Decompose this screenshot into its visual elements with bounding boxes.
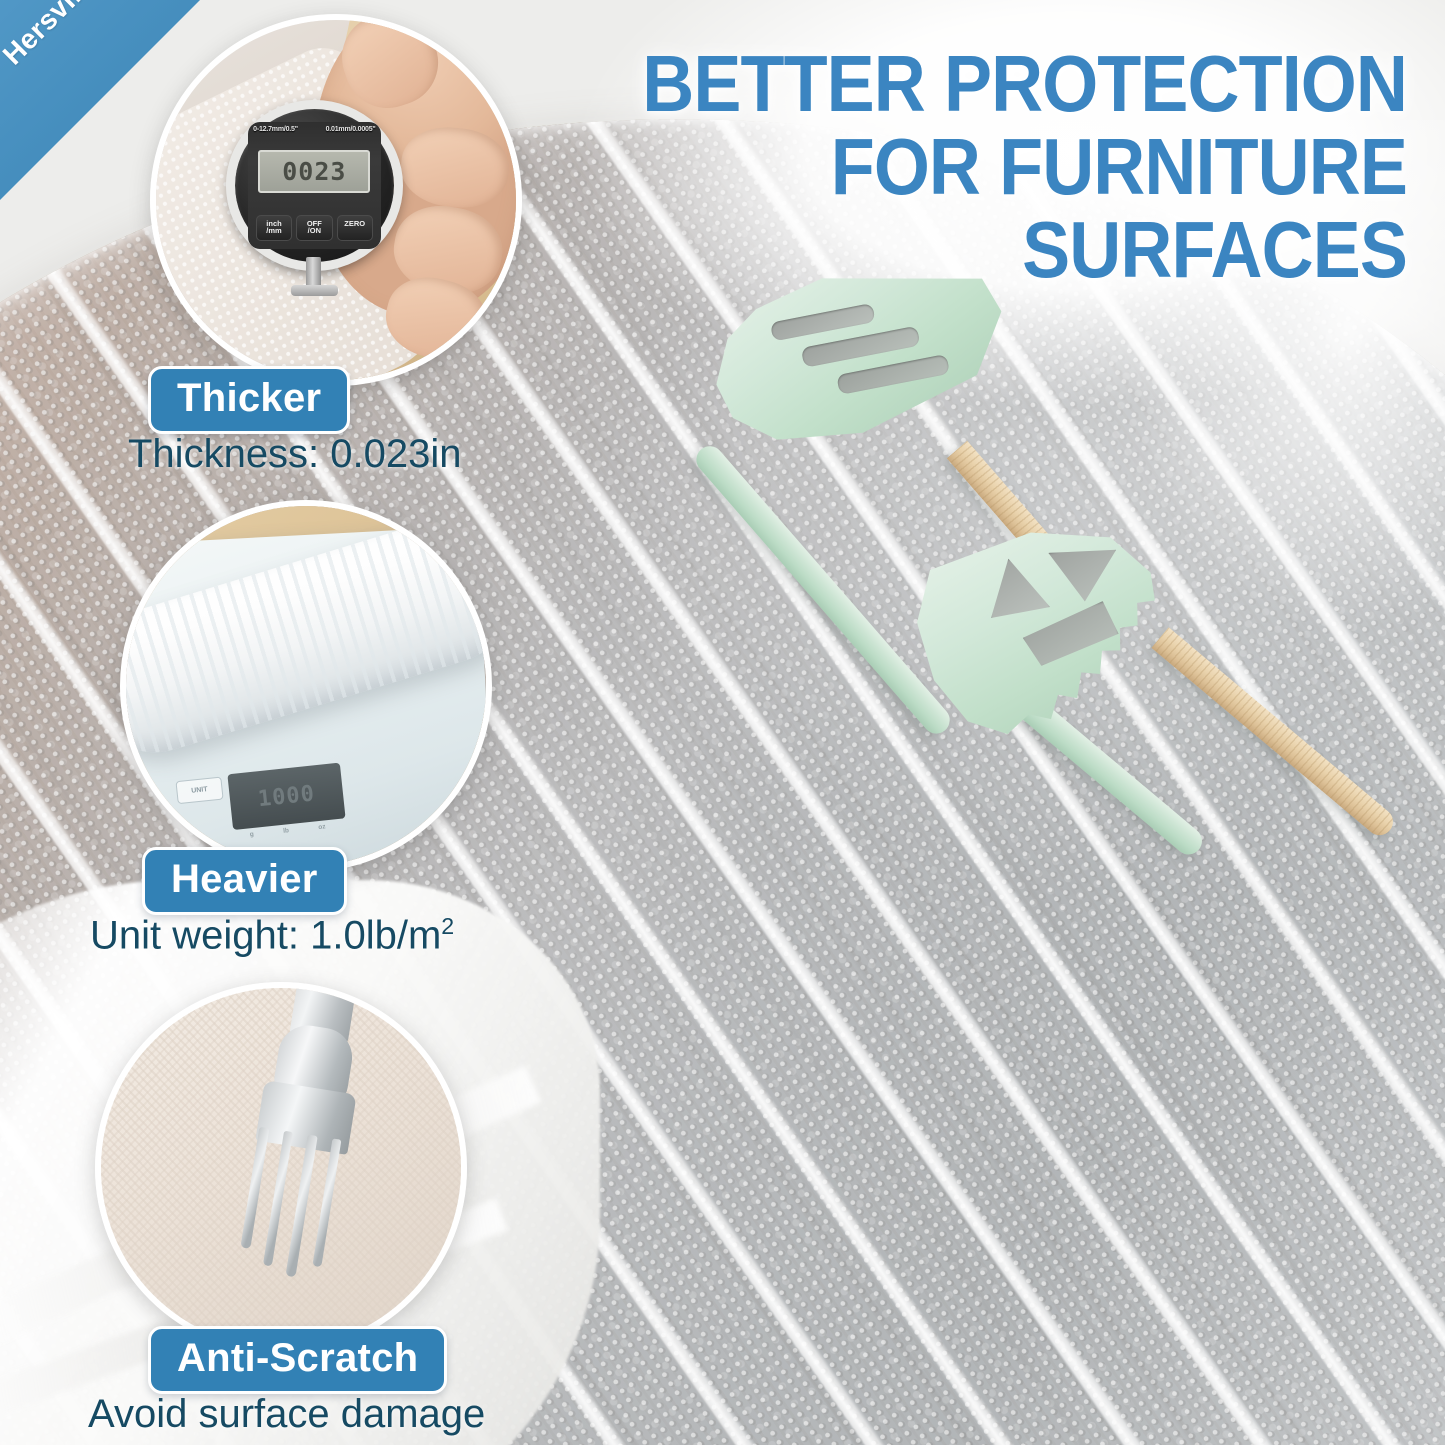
scale-unit-oz: oz — [318, 824, 326, 832]
headline-line-1: BETTER PROTECTION — [597, 42, 1407, 125]
feature-badge-anti-scratch: Anti-Scratch — [148, 1326, 447, 1394]
fork-tine — [263, 1131, 294, 1266]
zero-button[interactable]: ZERO — [337, 215, 373, 242]
weight-value: Unit weight: 1.0lb/m — [90, 913, 441, 957]
page-title: BETTER PROTECTION FOR FURNITURE SURFACES — [597, 42, 1407, 292]
gauge-spec-row: 0-12.7mm/0.5" 0.01mm/0.0005" — [253, 126, 375, 133]
scale-unit-button[interactable]: UNIT — [175, 777, 223, 805]
thickness-gauge-dial: 0-12.7mm/0.5" 0.01mm/0.0005" 0023 inch /… — [235, 106, 393, 264]
feature-subtext-anti-scratch: Avoid surface damage — [88, 1392, 485, 1437]
feature-badge-thicker: Thicker — [148, 366, 350, 434]
scale-reading: 1000 — [257, 781, 316, 812]
fork-on-mat-photo — [95, 982, 467, 1354]
product-marketing-image: Hersvin BETTER PROTECTION FOR FURNITURE … — [0, 0, 1445, 1445]
gauge-range-label: 0-12.7mm/0.5" — [253, 126, 298, 133]
on-label: /ON — [308, 226, 321, 235]
gauge-resolution-label: 0.01mm/0.0005" — [326, 126, 376, 133]
pasta-server-wood-handle — [1151, 627, 1398, 841]
scale-unit-g: g — [250, 831, 255, 838]
scale-unit-lb: lb — [283, 827, 289, 835]
inch-mm-button[interactable]: inch /mm — [256, 215, 292, 242]
mm-label: /mm — [266, 226, 281, 235]
scale-lcd: 1000 — [227, 762, 345, 830]
fork-tine — [240, 1127, 269, 1249]
feature-subtext-thickness: Thickness: 0.023in — [128, 432, 462, 477]
gauge-probe-stem — [306, 257, 320, 289]
mint-pasta-server — [880, 520, 1445, 1160]
headline-line-2: FOR FURNITURE — [597, 125, 1407, 208]
zero-label: ZERO — [344, 219, 365, 228]
gauge-probe-foot — [291, 285, 339, 296]
pasta-server-head — [898, 504, 1193, 760]
gauge-button-row: inch /mm OFF /ON ZERO — [256, 215, 373, 242]
gauge-reading: 0023 — [282, 157, 346, 186]
power-button[interactable]: OFF /ON — [296, 215, 332, 242]
gauge-lcd: 0023 — [258, 150, 370, 193]
fork-tine — [286, 1135, 318, 1277]
digital-thickness-gauge-photo: 0-12.7mm/0.5" 0.01mm/0.0005" 0023 inch /… — [150, 14, 522, 386]
weight-exponent: 2 — [441, 913, 454, 939]
gauge-face: 0-12.7mm/0.5" 0.01mm/0.0005" 0023 inch /… — [248, 122, 381, 249]
fork-tine — [312, 1139, 342, 1268]
feature-badge-heavier: Heavier — [142, 847, 347, 915]
mat-roll-on-kitchen-scale-photo: UNIT 1000 g lb oz — [120, 500, 492, 872]
feature-subtext-weight: Unit weight: 1.0lb/m2 — [90, 913, 454, 958]
headline-line-3: SURFACES — [597, 208, 1407, 291]
